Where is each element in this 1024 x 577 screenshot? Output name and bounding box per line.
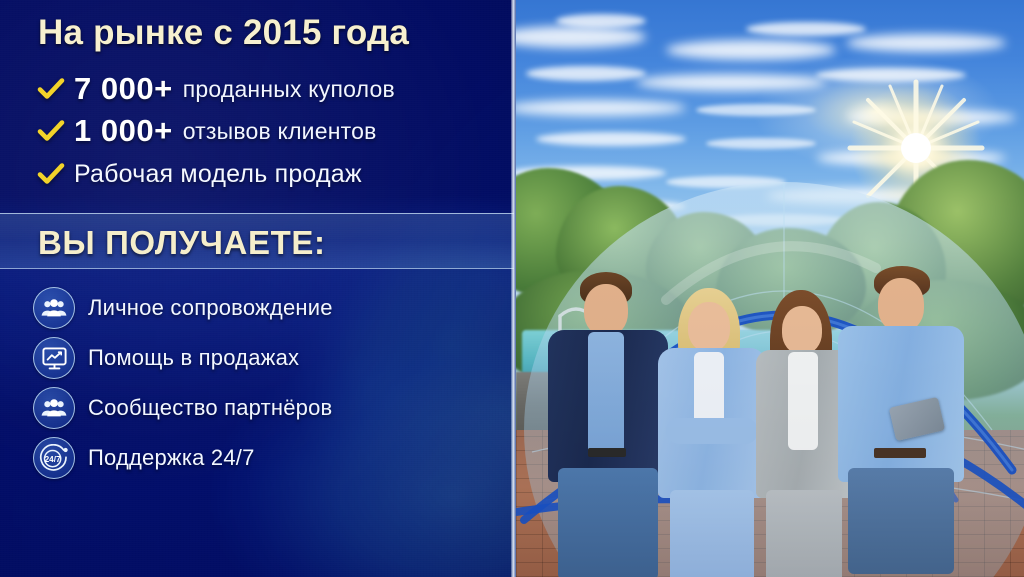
list-item: 7 000+ проданных куполов [36, 68, 486, 110]
highlight-label: проданных куполов [183, 76, 395, 103]
check-icon [36, 116, 66, 146]
section-title: ВЫ ПОЛУЧАЕТЕ: [38, 224, 326, 262]
highlight-label: Рабочая модель продаж [74, 160, 362, 189]
monitor-chart-icon [33, 337, 75, 379]
benefits-list: Личное сопровождение Помощь в продажах [33, 283, 493, 483]
panel-divider [511, 0, 516, 577]
list-item: 1 000+ отзывов клиентов [36, 110, 486, 152]
left-info-panel: На рынке с 2015 года 7 000+ проданных ку… [0, 0, 514, 577]
highlights-list: 7 000+ проданных куполов 1 000+ отзывов … [36, 68, 486, 196]
support-24-7-icon: 24/7 [33, 437, 75, 479]
benefit-label: Поддержка 24/7 [88, 445, 255, 471]
highlight-number: 7 000+ [74, 71, 173, 107]
people-group-icon [33, 387, 75, 429]
people-group-icon [33, 287, 75, 329]
highlight-number: 1 000+ [74, 113, 173, 149]
list-item: 24/7 Поддержка 24/7 [33, 433, 493, 483]
benefit-label: Личное сопровождение [88, 295, 333, 321]
list-item: Помощь в продажах [33, 333, 493, 383]
list-item: Личное сопровождение [33, 283, 493, 333]
benefit-label: Помощь в продажах [88, 345, 299, 371]
page-title: На рынке с 2015 года [38, 13, 409, 53]
list-item: Рабочая модель продаж [36, 152, 486, 196]
hero-photo [516, 0, 1024, 577]
highlight-label: отзывов клиентов [183, 118, 377, 145]
promo-banner: На рынке с 2015 года 7 000+ проданных ку… [0, 0, 1024, 577]
svg-text:24/7: 24/7 [45, 455, 61, 464]
benefit-label: Сообщество партнёров [88, 395, 332, 421]
list-item: Сообщество партнёров [33, 383, 493, 433]
check-icon [36, 159, 66, 189]
person-man-tablet [834, 266, 972, 577]
check-icon [36, 74, 66, 104]
